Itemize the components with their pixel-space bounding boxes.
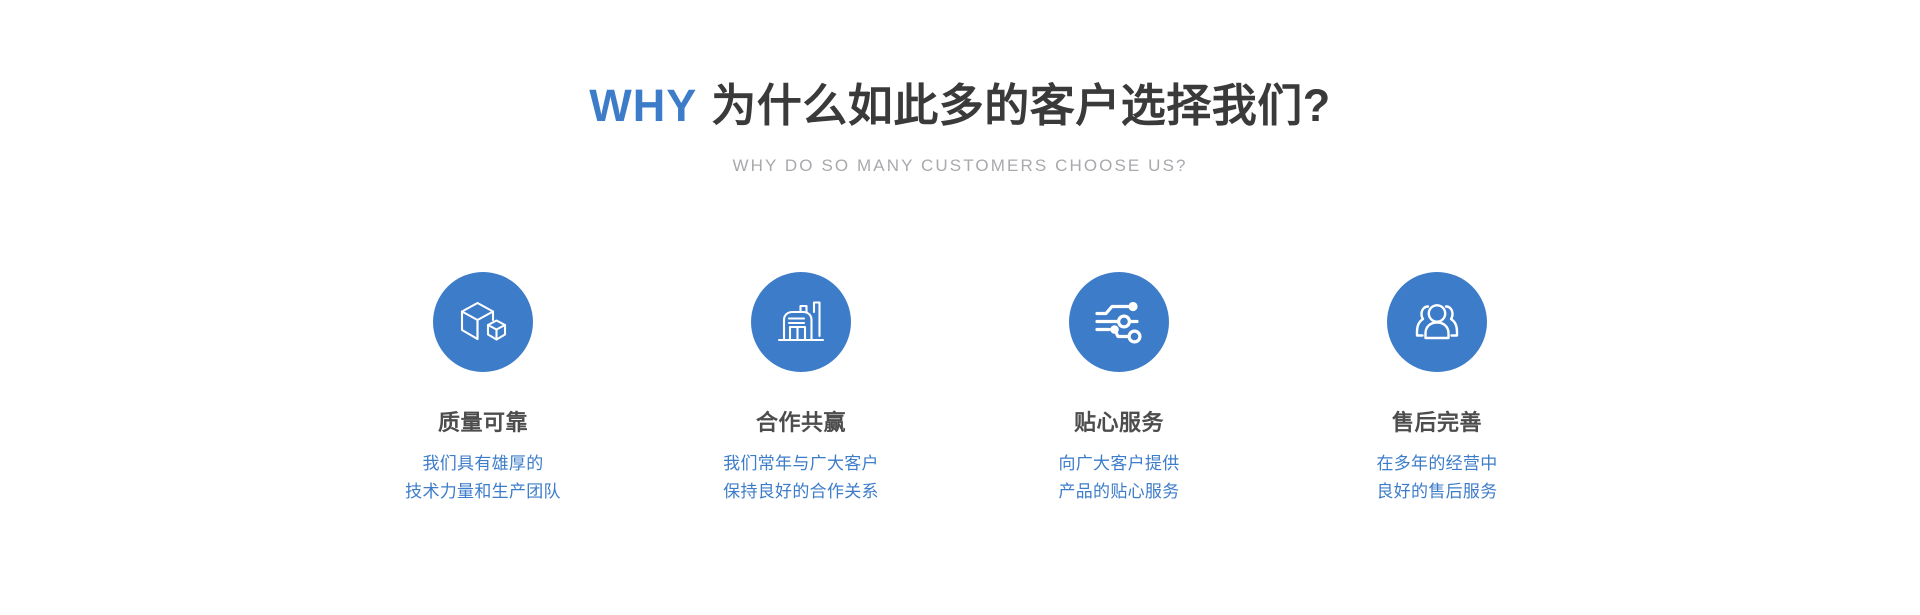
title-main-text: 为什么如此多的客户选择我们?: [711, 80, 1331, 131]
feature-desc-line-2: 保持良好的合作关系: [723, 478, 879, 506]
feature-description: 我们常年与广大客户 保持良好的合作关系: [723, 437, 879, 506]
feature-list: 质量可靠 我们具有雄厚的 技术力量和生产团队: [368, 272, 1552, 506]
feature-desc-line-1: 我们常年与广大客户: [723, 450, 879, 478]
feature-desc-line-1: 在多年的经营中: [1376, 450, 1497, 478]
feature-icon-circle: [433, 272, 533, 372]
title-prefix-why: WHY: [589, 80, 697, 131]
feature-title: 质量可靠: [438, 372, 528, 437]
users-group-icon: [1409, 294, 1465, 350]
factory-icon: [773, 294, 829, 350]
feature-description: 我们具有雄厚的 技术力量和生产团队: [405, 437, 561, 506]
circuit-nodes-icon: [1091, 294, 1147, 350]
feature-item-cooperation[interactable]: 合作共赢 我们常年与广大客户 保持良好的合作关系: [686, 272, 916, 506]
package-box-icon: [455, 294, 511, 350]
feature-description: 向广大客户提供 产品的贴心服务: [1058, 437, 1179, 506]
feature-title: 贴心服务: [1074, 372, 1164, 437]
feature-title: 售后完善: [1392, 372, 1482, 437]
why-choose-us-section: WHY为什么如此多的客户选择我们? WHY DO SO MANY CUSTOME…: [0, 0, 1920, 615]
feature-icon-circle: [751, 272, 851, 372]
feature-title: 合作共赢: [756, 372, 846, 437]
page-title: WHY为什么如此多的客户选择我们?: [0, 78, 1920, 134]
feature-item-aftersales[interactable]: 售后完善 在多年的经营中 良好的售后服务: [1322, 272, 1552, 506]
feature-item-service[interactable]: 贴心服务 向广大客户提供 产品的贴心服务: [1004, 272, 1234, 506]
feature-desc-line-1: 向广大客户提供: [1058, 450, 1179, 478]
page-subtitle: WHY DO SO MANY CUSTOMERS CHOOSE US?: [0, 134, 1920, 177]
feature-description: 在多年的经营中 良好的售后服务: [1376, 437, 1497, 506]
feature-desc-line-2: 技术力量和生产团队: [405, 478, 561, 506]
feature-item-quality[interactable]: 质量可靠 我们具有雄厚的 技术力量和生产团队: [368, 272, 598, 506]
feature-desc-line-2: 产品的贴心服务: [1058, 478, 1179, 506]
heading-block: WHY为什么如此多的客户选择我们? WHY DO SO MANY CUSTOME…: [0, 0, 1920, 177]
feature-icon-circle: [1069, 272, 1169, 372]
feature-desc-line-2: 良好的售后服务: [1376, 478, 1497, 506]
feature-icon-circle: [1387, 272, 1487, 372]
feature-desc-line-1: 我们具有雄厚的: [405, 450, 561, 478]
